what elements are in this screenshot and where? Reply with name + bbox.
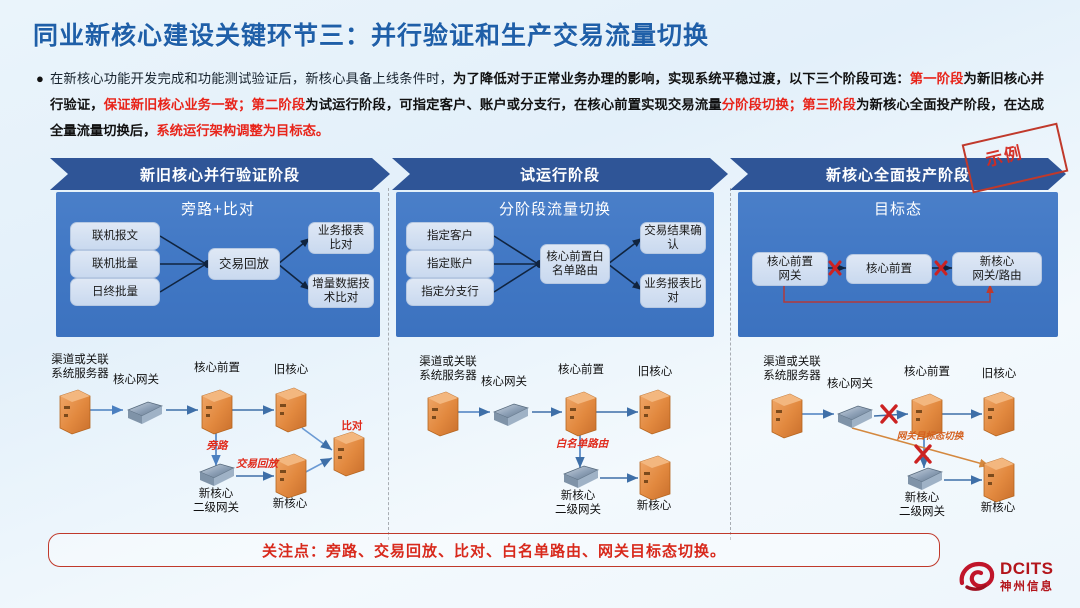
server-icon-new-core: [640, 456, 670, 500]
dcits-logo-cn: 神州信息: [1000, 578, 1054, 594]
para-seg-6: 第二阶段: [251, 97, 305, 112]
para-seg-2: 为了降低对于正常业务办理的影响，实现系统平稳过渡，以下三个阶段可选：: [453, 71, 910, 86]
gateway-icon-secondary: [564, 466, 598, 488]
process-2-input-1[interactable]: 指定客户: [406, 222, 494, 250]
server-icon-source: [772, 394, 802, 438]
process-1-output-2[interactable]: 增量数据技 术比对: [308, 274, 374, 308]
dcits-logo: DCITS 神州信息: [958, 557, 1076, 599]
topology-3-label-new-core: 新核心: [968, 502, 1028, 516]
para-seg-7: 为试运行阶段，可指定客户、账户或分支行，在核心前置实现交易流量: [305, 97, 721, 112]
topology-1-label-gateway: 核心网关: [102, 374, 170, 388]
topology-1-label-compare: 比对: [324, 420, 380, 434]
topology-2-label-front: 核心前置: [548, 364, 614, 378]
process-2-output-2[interactable]: 业务报表比 对: [640, 274, 706, 308]
topology-1-label-bypass: 旁路: [196, 440, 238, 454]
page-title: 同业新核心建设关键环节三：并行验证和生产交易流量切换: [33, 16, 709, 52]
process-3-node-1[interactable]: 核心前置 网关: [752, 252, 828, 286]
topology-3-label-front: 核心前置: [894, 366, 960, 380]
dcits-logo-en: DCITS: [1000, 559, 1054, 579]
topology-2-label-whitelist: 白名单路由: [542, 438, 622, 452]
panel-divider-1: [388, 188, 389, 540]
process-box-phase-1: 旁路+比对 联机报文 联机批量 日终批量 交易回放 业务报表 比对 增量数据技 …: [56, 192, 380, 337]
topology-1-label-new-core: 新核心: [260, 498, 320, 512]
phase-banner-2[interactable]: 试运行阶段: [392, 158, 728, 190]
footer-callout-text: 关注点：旁路、交易回放、比对、白名单路由、网关目标态切换。: [262, 540, 726, 561]
intro-paragraph: 在新核心功能开发完成和功能测试验证后，新核心具备上线条件时，为了降低对于正常业务…: [50, 66, 1044, 144]
server-icon-new-core: [984, 458, 1014, 502]
process-3-node-2[interactable]: 核心前置: [846, 254, 932, 284]
footer-callout: 关注点：旁路、交易回放、比对、白名单路由、网关目标态切换。: [48, 533, 940, 567]
topology-1-label-front: 核心前置: [184, 362, 250, 376]
process-box-phase-3: 目标态 核心前置 网关 核心前置 新核心 网关/路由: [738, 192, 1058, 337]
server-icon-source: [428, 392, 458, 436]
topology-3-label-gateway: 核心网关: [816, 378, 884, 392]
phase-banner-1[interactable]: 新旧核心并行验证阶段: [50, 158, 390, 190]
para-seg-8: 分阶段切换；: [722, 97, 802, 112]
process-1-input-1[interactable]: 联机报文: [70, 222, 160, 250]
topology-phase-1: 渠道或关联 系统服务器 核心网关 核心前置 旧核心 比对 旁路 交易回放 新核心…: [20, 348, 386, 533]
bullet-icon: ●: [36, 66, 50, 92]
server-icon-old-core: [276, 388, 306, 432]
para-seg-5: 保证新旧核心业务一致；: [104, 97, 252, 112]
process-3-node-3[interactable]: 新核心 网关/路由: [952, 252, 1042, 286]
gateway-icon-secondary: [908, 468, 942, 490]
intro-paragraph-block: ● 在新核心功能开发完成和功能测试验证后，新核心具备上线条件时，为了降低对于正常…: [36, 66, 1044, 144]
server-icon-old-core: [984, 392, 1014, 436]
process-2-middle[interactable]: 核心前置白 名单路由: [540, 244, 610, 284]
gateway-icon-core: [494, 404, 528, 426]
process-1-input-2[interactable]: 联机批量: [70, 250, 160, 278]
topology-2-label-new-core: 新核心: [624, 500, 684, 514]
topology-1-label-old-core: 旧核心: [262, 364, 320, 378]
para-seg-3: 第一阶段: [910, 71, 964, 86]
topology-1-label-replay: 交易回放: [228, 458, 286, 472]
slide-root: 同业新核心建设关键环节三：并行验证和生产交易流量切换 ● 在新核心功能开发完成和…: [0, 0, 1080, 608]
process-2-output-1[interactable]: 交易结果确 认: [640, 222, 706, 254]
process-2-input-2[interactable]: 指定账户: [406, 250, 494, 278]
gateway-icon-core: [838, 406, 872, 428]
server-icon-source: [60, 390, 90, 434]
process-1-input-3[interactable]: 日终批量: [70, 278, 160, 306]
process-box-phase-2: 分阶段流量切换 指定客户 指定账户 指定分支行 核心前置白 名单路由 交易结果确…: [396, 192, 714, 337]
topology-2-label-gateway: 核心网关: [470, 376, 538, 390]
topology-2-label-sub-gateway: 新核心 二级网关: [538, 490, 618, 517]
gateway-icon-core: [128, 402, 162, 424]
para-seg-11: 系统运行架构调整为目标态。: [156, 123, 329, 138]
topology-3-label-sub-gateway: 新核心 二级网关: [882, 492, 962, 519]
server-icon-compare: [334, 432, 364, 476]
para-seg-1: 在新核心功能开发完成和功能测试验证后，新核心具备上线条件时，: [50, 71, 453, 86]
topology-3-label-old-core: 旧核心: [970, 368, 1028, 382]
topology-1-label-sub-gateway: 新核心 二级网关: [176, 488, 256, 515]
topology-phase-2: 渠道或关联 系统服务器 核心网关 核心前置 旧核心 白名单路由 新核心 二级网关…: [390, 348, 728, 533]
panel-divider-2: [730, 188, 731, 540]
process-1-middle[interactable]: 交易回放: [208, 248, 280, 280]
topology-phase-3: 渠道或关联 系统服务器 核心网关 核心前置 旧核心 网关目标态切换 新核心 二级…: [732, 348, 1072, 533]
process-1-output-1[interactable]: 业务报表 比对: [308, 222, 374, 254]
dcits-logo-mark-icon: [958, 559, 996, 593]
server-icon-old-core: [640, 390, 670, 434]
para-seg-9: 第三阶段: [802, 97, 856, 112]
server-icon-front: [566, 392, 596, 436]
server-icon-front: [202, 390, 232, 434]
topology-2-label-old-core: 旧核心: [626, 366, 684, 380]
topology-3-label-switch: 网关目标态切换: [880, 430, 980, 444]
process-2-input-3[interactable]: 指定分支行: [406, 278, 494, 306]
